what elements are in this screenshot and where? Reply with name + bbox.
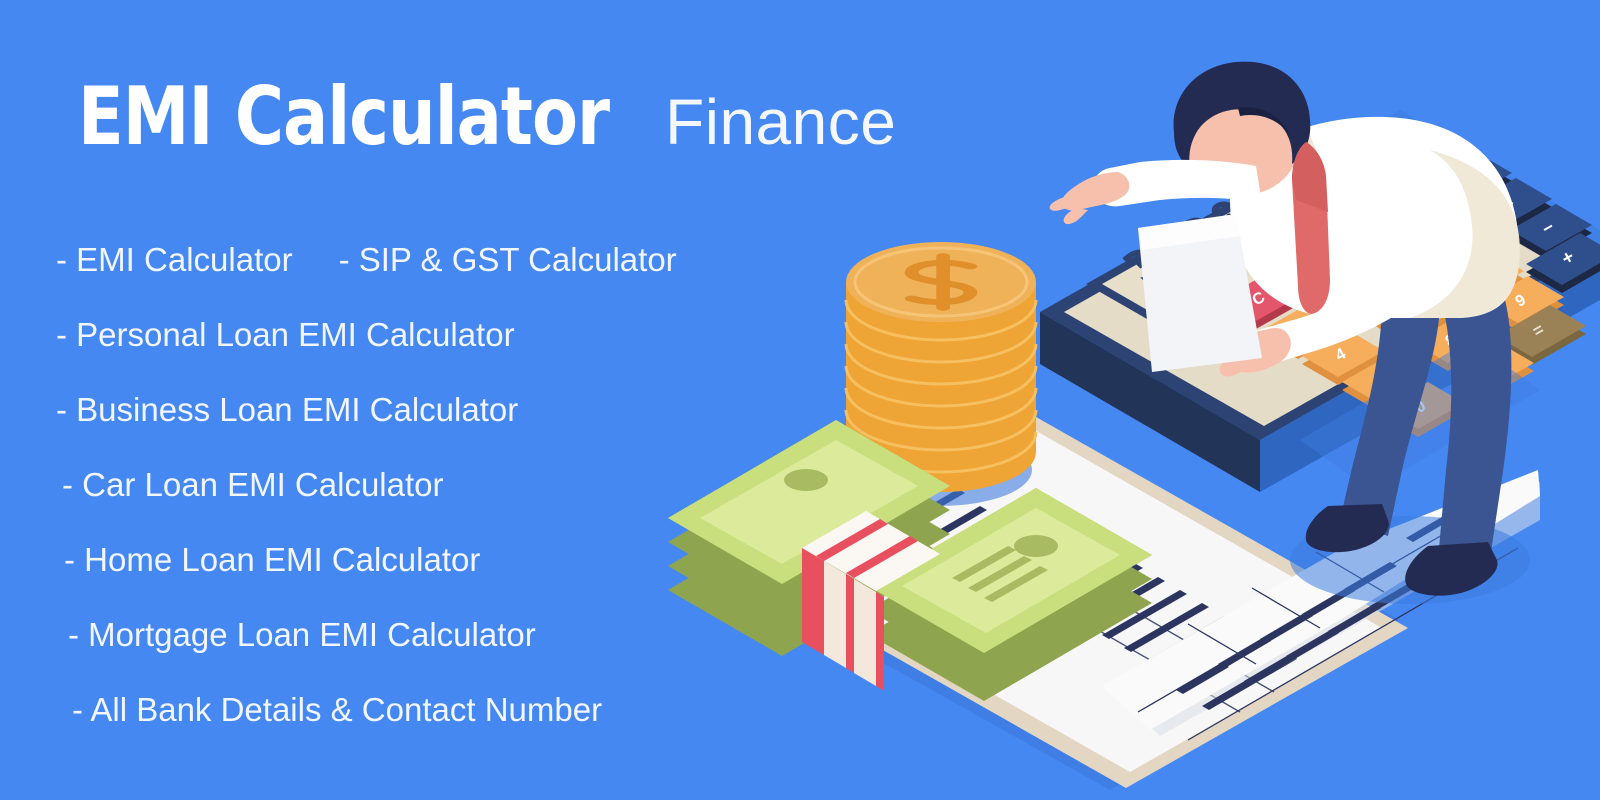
list-item-label: Business Loan EMI Calculator	[76, 391, 518, 428]
list-item-label: SIP & GST Calculator	[359, 241, 677, 278]
list-item-label: All Bank Details & Contact Number	[90, 691, 602, 728]
list-bullet: -	[72, 691, 83, 728]
page-title-main: EMI Calculator	[78, 74, 609, 160]
list-item-label: Mortgage Loan EMI Calculator	[88, 616, 536, 653]
list-bullet: -	[339, 241, 350, 278]
list-bullet: -	[62, 466, 73, 503]
poster-canvas: EMI Calculator Finance - EMI Calculator …	[0, 0, 1600, 800]
finance-illustration: 3620 ÷	[640, 0, 1600, 800]
list-bullet: -	[56, 391, 67, 428]
list-item-label: EMI Calculator	[76, 241, 292, 278]
list-item-label: Personal Loan EMI Calculator	[76, 316, 514, 353]
list-bullet: -	[64, 541, 75, 578]
list-item-label: Car Loan EMI Calculator	[82, 466, 443, 503]
list-bullet: -	[56, 241, 67, 278]
list-bullet: -	[68, 616, 79, 653]
list-bullet: -	[56, 316, 67, 353]
list-item-label: Home Loan EMI Calculator	[84, 541, 480, 578]
